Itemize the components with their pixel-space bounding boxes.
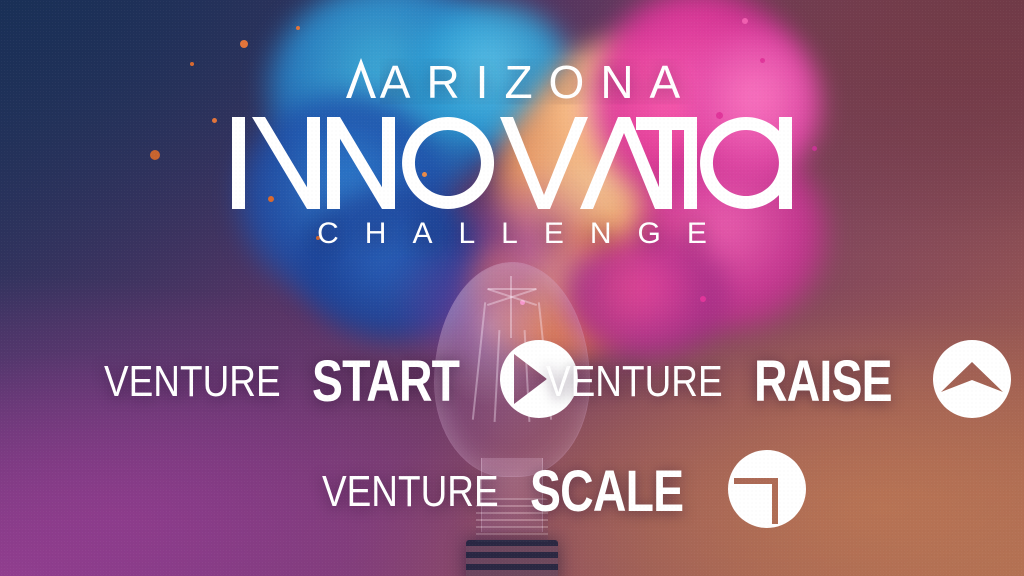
background-noise-texture — [0, 0, 1024, 576]
promo-banner: ARIZONA — [0, 0, 1024, 576]
